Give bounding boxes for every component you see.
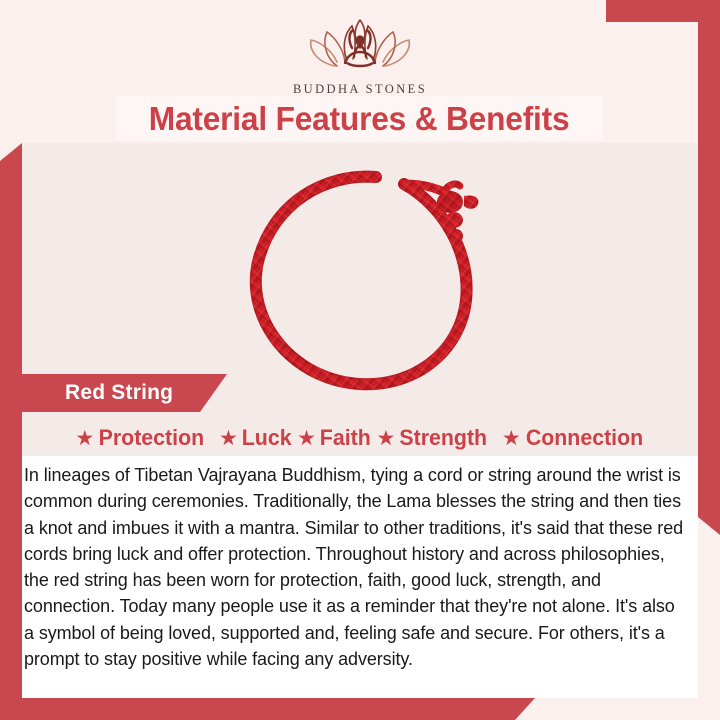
- benefit-item-faith: ★ Faith: [297, 425, 371, 451]
- brand-name: BUDDHA STONES: [0, 82, 720, 97]
- lotus-meditation-icon: [0, 14, 720, 81]
- frame-border-left: [0, 143, 22, 720]
- infographic-page: BUDDHA STONES Material Features & Benefi…: [0, 0, 720, 720]
- description-block: In lineages of Tibetan Vajrayana Buddhis…: [22, 456, 698, 698]
- page-title: Material Features & Benefits: [149, 100, 570, 138]
- benefits-row: ★ Protection ★ Luck ★ Faith ★ Strength ★…: [22, 420, 698, 456]
- star-icon: ★: [75, 428, 94, 449]
- benefit-label: Protection: [99, 425, 205, 451]
- benefit-item-strength: ★ Strength: [377, 425, 489, 451]
- benefit-label: Connection: [525, 425, 642, 451]
- product-name-ribbon: Red String: [0, 374, 227, 412]
- star-icon: ★: [377, 428, 396, 449]
- star-icon: ★: [297, 428, 316, 449]
- benefit-item-protection: ★ Protection: [75, 425, 206, 451]
- page-title-band: Material Features & Benefits: [116, 96, 603, 141]
- benefit-item-connection: ★ Connection: [502, 425, 645, 451]
- star-icon: ★: [502, 428, 521, 449]
- benefit-label: Luck: [242, 425, 292, 451]
- brand-logo: BUDDHA STONES: [0, 14, 720, 97]
- benefit-item-luck: ★ Luck: [219, 425, 292, 451]
- benefit-label: Faith: [320, 425, 371, 451]
- product-name-label: Red String: [65, 381, 173, 405]
- red-braided-cord-bracelet-icon: [228, 158, 496, 398]
- description-paragraph: In lineages of Tibetan Vajrayana Buddhis…: [24, 462, 687, 672]
- star-icon: ★: [219, 428, 238, 449]
- benefit-label: Strength: [400, 425, 488, 451]
- frame-border-bottom: [0, 698, 535, 720]
